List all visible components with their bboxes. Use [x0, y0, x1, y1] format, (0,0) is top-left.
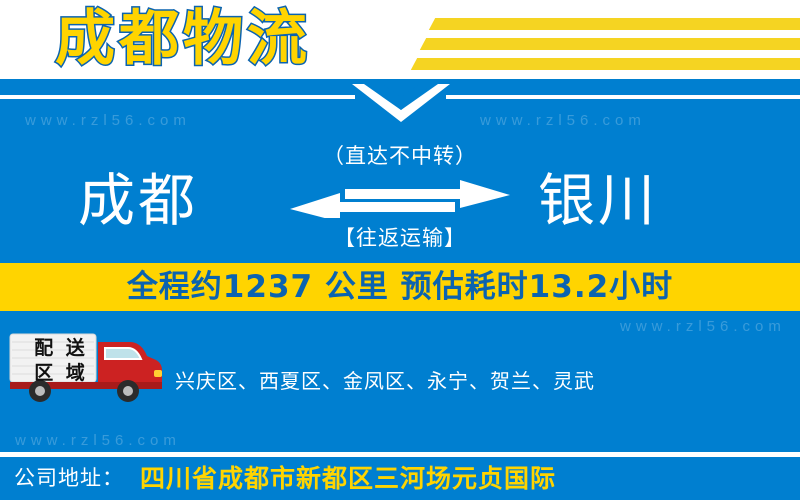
company-address-label: 公司地址：: [14, 457, 124, 500]
decorative-stripe: [429, 18, 800, 30]
delivery-area-badge: 配 送 区 域: [22, 336, 100, 386]
distance-duration-band: 全程约1237 公里 预估耗时13.2小时: [0, 263, 800, 311]
watermark: www.rzl56.com: [25, 112, 191, 129]
page-title: 成都物流: [55, 2, 311, 76]
divider-line-right: [446, 95, 800, 99]
footer-bar: 公司地址： 四川省成都市新都区三河场元贞国际: [0, 457, 800, 500]
decorative-stripe: [420, 38, 800, 50]
route-note: （直达不中转）: [290, 140, 510, 170]
delivery-districts: 兴庆区、西夏区、金凤区、永宁、贺兰、灵武: [175, 365, 595, 394]
destination-city: 银川: [538, 168, 658, 234]
logistics-banner: 成都物流 www.rzl56.com www.rzl56.com www.rzl…: [0, 0, 800, 500]
banner-header: 成都物流: [0, 0, 800, 79]
distance-duration-text: 全程约1237 公里 预估耗时13.2小时: [0, 263, 800, 311]
divider-line-left: [0, 95, 355, 99]
route-mode: 【往返运输】: [290, 222, 510, 252]
watermark: www.rzl56.com: [15, 432, 181, 449]
double-arrow-icon: [285, 178, 515, 218]
decorative-stripe: [411, 58, 800, 70]
delivery-area-badge-line1: 配 送: [22, 336, 100, 361]
chevron-down-icon: [352, 84, 450, 124]
company-address-value: 四川省成都市新都区三河场元贞国际: [140, 457, 556, 500]
delivery-area-badge-line2: 区 域: [22, 361, 100, 386]
watermark: www.rzl56.com: [480, 112, 646, 129]
watermark: www.rzl56.com: [620, 318, 786, 335]
origin-city: 成都: [78, 168, 198, 234]
